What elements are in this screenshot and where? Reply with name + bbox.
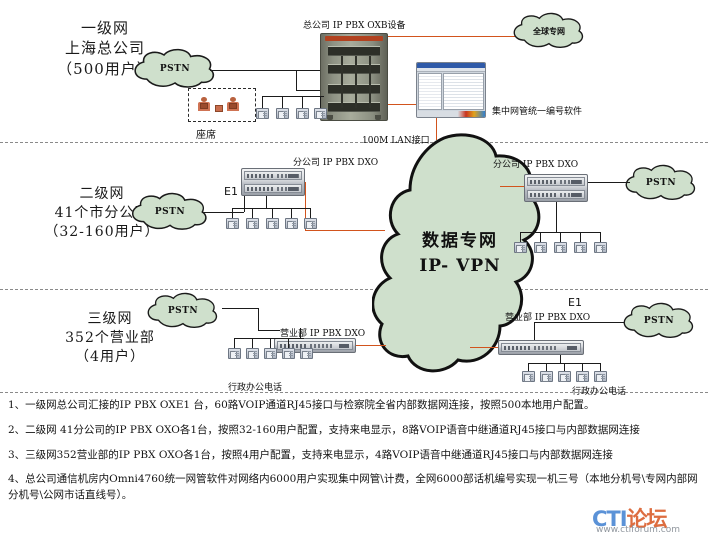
cloud-shape — [142, 292, 224, 330]
agent-screen-icon — [229, 103, 237, 109]
nms-software-window — [416, 62, 486, 118]
e1-label-office-right: E1 — [568, 296, 582, 309]
branch-right-drop-3 — [560, 232, 561, 242]
link-vpn-to-branch-right — [500, 186, 524, 187]
link-office-right-to-pstn — [534, 322, 624, 323]
phone-icon — [226, 218, 239, 229]
nms-software-label: 集中网管统一编号软件 — [492, 104, 582, 117]
agent-seat-1 — [198, 97, 210, 111]
rack-column-1 — [341, 56, 343, 108]
caption-block: 1、一级网总公司汇接的IP PBX OXE1 台，60路VOIP通道RJ45接口… — [8, 398, 702, 513]
phone-icon — [558, 371, 571, 382]
e1-label-branch-left: E1 — [224, 185, 238, 198]
pbx-ports — [560, 193, 582, 197]
phone-icon — [246, 218, 259, 229]
office-right-phone-riser — [560, 355, 561, 363]
office-left-phone-riser — [300, 328, 301, 338]
phone-icon — [540, 371, 553, 382]
phone-icon — [514, 242, 527, 253]
cloud-pstn-tier1: PSTN — [128, 48, 222, 90]
agent-seats-box — [188, 88, 256, 122]
phone-icon — [594, 371, 607, 382]
tier-3-line-2: 352个营业部 — [30, 329, 190, 348]
cloud-shape — [126, 192, 214, 232]
cloud-pstn-tier2-left: PSTN — [126, 192, 214, 232]
watermark-url: www.ctiforum.com — [596, 525, 680, 535]
network-topology-diagram: 一级网 上海总公司 （500用户） PSTN 总公司 IP PBX OXB设备 — [0, 0, 708, 543]
phone-icon — [554, 242, 567, 253]
link-office-right-riser — [534, 322, 535, 340]
phone-icon — [256, 108, 269, 119]
link-branch-right-to-pstn — [588, 182, 630, 183]
branch-pbx-left-label: 分公司 IP PBX DXO — [293, 155, 378, 168]
link-pstn2-e1 — [202, 212, 244, 213]
phone-icon — [246, 348, 259, 359]
agent-seat-2 — [227, 97, 239, 111]
hq-phone-drop-3 — [302, 96, 303, 108]
branch-pbx-right-label: 分公司 IP PBX DXO — [493, 157, 578, 170]
caption-1: 1、一级网总公司汇接的IP PBX OXE1 台，60路VOIP通道RJ45接口… — [8, 398, 702, 414]
cloud-pstn-tier2-right: PSTN — [620, 164, 702, 202]
window-menubar — [417, 68, 485, 72]
pbx-unit — [244, 171, 302, 180]
rack-shelf-4 — [328, 102, 380, 112]
caption-2: 2、二级网 41分公司的IP PBX OXO各1台，按照32-160用户配置，支… — [8, 423, 702, 439]
branch-left-drop-5 — [310, 208, 311, 218]
rack-foot-right — [375, 115, 381, 120]
branch-left-drop-1 — [232, 208, 233, 218]
agent-screen-icon — [200, 103, 208, 109]
tier-separator-2 — [0, 289, 708, 290]
branch-right-drop-1 — [520, 232, 521, 242]
link-hq-to-nms — [388, 104, 416, 105]
branch-left-drop-2 — [252, 208, 253, 218]
hq-pbx-rack — [320, 33, 388, 121]
cloud-shape — [618, 302, 700, 340]
phone-icon — [304, 218, 317, 229]
pbx-ports — [310, 344, 332, 348]
link-pstn3-left-to-pbx — [258, 330, 280, 331]
agent-desk-pc-icon — [215, 105, 223, 112]
pbx-ports — [277, 174, 299, 178]
branch-right-drop-2 — [540, 232, 541, 242]
rack-shelf-2 — [328, 64, 380, 74]
link-pstn3-left — [222, 308, 258, 309]
hq-pbx-label: 总公司 IP PBX OXB设备 — [303, 18, 406, 31]
phone-icon — [285, 218, 298, 229]
phone-icon — [534, 242, 547, 253]
rack-top-bar — [325, 36, 383, 41]
phone-icon — [296, 108, 309, 119]
phone-icon — [574, 242, 587, 253]
link-pstn1-to-hq — [210, 70, 320, 71]
caption-4: 4、总公司通信机房内Omni4760统一网管软件对网络内6000用户实现集中网管… — [8, 472, 702, 504]
branch-left-drop-4 — [291, 208, 292, 218]
office-left-phone-bus — [234, 338, 304, 339]
rack-column-2 — [355, 56, 357, 108]
pbx-unit — [501, 343, 581, 352]
pbx-ports — [534, 346, 556, 350]
hq-phone-drop-1 — [262, 96, 263, 108]
window-tree-pane — [418, 73, 442, 110]
branch-right-drop-4 — [580, 232, 581, 242]
link-vpn-to-office-right — [470, 347, 498, 348]
caption-3: 3、三级网352营业部的IP PBX OXO各1台，按照4用户配置，支持来电显示… — [8, 448, 702, 464]
pbx-ports — [560, 180, 582, 184]
seats-label: 座席 — [196, 126, 216, 141]
office-left-drop-4 — [288, 338, 289, 348]
phone-icon — [264, 348, 277, 359]
hq-phone-drop-4 — [320, 96, 321, 108]
branch-left-phone-riser — [266, 196, 267, 208]
phone-icon — [276, 108, 289, 119]
cloud-pstn-tier3-left: PSTN — [142, 292, 224, 330]
branch-right-drop-5 — [600, 232, 601, 242]
phone-icon — [282, 348, 295, 359]
phone-icon — [300, 348, 313, 359]
cloud-shape — [620, 164, 702, 202]
office-right-drop-1 — [528, 363, 529, 371]
hq-phone-drop-2 — [282, 96, 283, 108]
branch-right-phone-riser — [556, 202, 557, 232]
tier-separator-1 — [0, 142, 708, 143]
hq-phone-bus — [262, 96, 324, 97]
cloud-shape — [128, 48, 222, 90]
phone-icon — [314, 108, 327, 119]
cloud-global-network: 全球专网 — [508, 12, 590, 50]
rack-shelf-3 — [328, 84, 380, 94]
office-right-drop-3 — [564, 363, 565, 371]
tier-1-line-1: 一级网 — [20, 18, 190, 38]
office-right-drop-4 — [582, 363, 583, 371]
branch-left-drop-3 — [272, 208, 273, 218]
phone-icon — [522, 371, 535, 382]
admin-phones-left-label: 行政办公电话 — [228, 380, 282, 393]
cloud-shape — [508, 12, 590, 50]
branch-left-phone-bus — [232, 208, 310, 209]
phone-icon — [266, 218, 279, 229]
phone-icon — [576, 371, 589, 382]
rack-foot-left — [327, 115, 333, 120]
branch-pbx-right — [524, 174, 588, 202]
phone-icon — [228, 348, 241, 359]
admin-phones-right-label: 行政办公电话 — [572, 384, 626, 397]
pbx-unit — [527, 190, 585, 199]
office-left-drop-3 — [270, 338, 271, 348]
office-right-drop-5 — [600, 363, 601, 371]
phone-icon — [594, 242, 607, 253]
link-pstn3-left-riser — [258, 308, 259, 330]
office-left-drop-2 — [252, 338, 253, 348]
cloud-pstn-tier3-right: PSTN — [618, 302, 700, 340]
tier-3-line-3: （4用户） — [30, 348, 190, 367]
link-pstn1-drop — [296, 70, 297, 90]
rack-shelf-1 — [328, 46, 380, 56]
window-data-grid — [443, 73, 484, 110]
pbx-ports — [277, 187, 299, 191]
pbx-unit — [244, 184, 302, 193]
link-hq-to-globalnet — [388, 36, 520, 37]
link-pstn1-to-rack — [296, 90, 322, 91]
rack-column-3 — [369, 56, 371, 108]
pbx-unit — [527, 177, 585, 186]
link-office-left-to-vpn — [356, 345, 386, 346]
monitor-base — [437, 117, 464, 118]
branch-pbx-left — [241, 168, 305, 196]
office-left-drop-1 — [234, 338, 235, 348]
office-pbx-right — [498, 340, 584, 355]
office-right-drop-2 — [546, 363, 547, 371]
link-branch-left-to-vpn — [305, 230, 385, 231]
